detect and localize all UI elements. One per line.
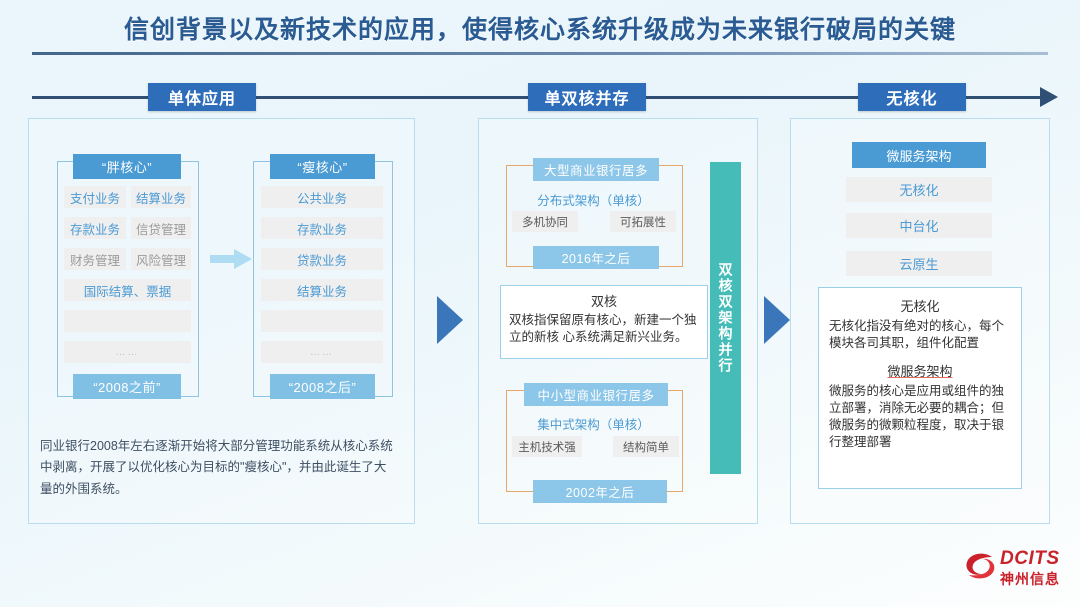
thin-core-chip: 公共业务	[261, 186, 383, 208]
fat-core-chip: 支付业务	[64, 186, 126, 208]
logo-text-cn: 神州信息	[1000, 569, 1060, 589]
stage-label-coreless[interactable]: 无核化	[858, 83, 966, 111]
small-bank-tag: 结构简单	[613, 436, 679, 457]
small-bank-subtitle: 集中式架构（单核）	[506, 414, 681, 433]
fat-core-chip: 风险管理	[131, 248, 191, 270]
company-logo: DCITS 神州信息	[962, 548, 1068, 592]
coreless-chip: 无核化	[846, 177, 992, 202]
stage-label-text: 无核化	[886, 85, 937, 109]
thin-core-footer: “2008之后”	[270, 374, 375, 399]
fat-core-header: “胖核心”	[73, 154, 181, 179]
large-bank-header-text: 大型商业银行居多	[544, 160, 648, 179]
microservice-header-text: 微服务架构	[886, 146, 951, 165]
fat-core-chip: 财务管理	[64, 248, 126, 270]
large-bank-subtitle: 分布式架构（单核）	[506, 190, 681, 209]
thin-core-chip	[261, 310, 383, 332]
large-bank-tag: 多机协同	[512, 211, 578, 232]
thin-core-chip: ……	[261, 341, 383, 363]
coreless-chip: 云原生	[846, 251, 992, 276]
thin-core-header-text: “瘦核心”	[297, 157, 347, 176]
monolithic-note: 同业银行2008年左右逐渐开始将大部分管理功能系统从核心系统中剥离，开展了以优化…	[40, 436, 398, 510]
large-bank-header: 大型商业银行居多	[533, 158, 659, 181]
thin-core-chip: 存款业务	[261, 217, 383, 239]
page-title: 信创背景以及新技术的应用，使得核心系统升级成为未来银行破局的关键	[124, 10, 956, 46]
thin-core-chip: 贷款业务	[261, 248, 383, 270]
stage-label-monolithic[interactable]: 单体应用	[148, 83, 256, 111]
dual-core-note-body: 双核指保留原有核心，新建一个独立的新核 心系统满足新兴业务。	[509, 312, 699, 346]
small-bank-header-text: 中小型商业银行居多	[537, 385, 654, 404]
flow-arrow-icon-1	[437, 296, 463, 344]
flow-arrow-icon-2	[764, 296, 790, 344]
stage-label-dual-core[interactable]: 单双核并存	[528, 83, 646, 111]
large-bank-tag: 可拓展性	[610, 211, 676, 232]
thin-core-chip: 结算业务	[261, 279, 383, 301]
dual-core-vertical-bar: 双核双架构并行	[710, 162, 741, 474]
fat-core-footer: “2008之前”	[73, 374, 181, 399]
fat-core-chip: ……	[64, 341, 191, 363]
dcits-swirl-icon	[962, 548, 998, 584]
dual-core-note: 双核 双核指保留原有核心，新建一个独立的新核 心系统满足新兴业务。	[500, 285, 708, 359]
transform-arrow-icon	[210, 248, 252, 270]
coreless-note-body-2: 微服务的核心是应用或组件的独立部署，消除无必要的耦合；但微服务的微颗粒程度，取决…	[829, 383, 1011, 452]
thin-core-footer-text: “2008之后”	[289, 377, 357, 396]
slide-title-bar: 信创背景以及新技术的应用，使得核心系统升级成为未来银行破局的关键	[0, 0, 1080, 56]
fat-core-chip	[64, 310, 191, 332]
fat-core-chip: 结算业务	[131, 186, 191, 208]
dual-core-note-title: 双核	[501, 291, 707, 310]
fat-core-chip: 信贷管理	[131, 217, 191, 239]
fat-core-footer-text: “2008之前”	[93, 377, 161, 396]
small-bank-footer: 2002年之后	[533, 480, 667, 503]
title-underline	[32, 52, 1048, 55]
fat-core-chip: 国际结算、票据	[64, 279, 191, 301]
large-bank-footer-text: 2016年之后	[562, 248, 631, 267]
small-bank-header: 中小型商业银行居多	[524, 383, 668, 406]
fat-core-header-text: “胖核心”	[102, 157, 152, 176]
timeline-arrow-icon	[1040, 87, 1058, 107]
fat-core-chip: 存款业务	[64, 217, 126, 239]
small-bank-tag: 主机技术强	[512, 436, 582, 457]
small-bank-footer-text: 2002年之后	[566, 482, 635, 501]
logo-text-en: DCITS	[1000, 548, 1060, 570]
stage-label-text: 单双核并存	[544, 85, 629, 109]
large-bank-footer: 2016年之后	[533, 246, 659, 269]
stage-label-text: 单体应用	[168, 85, 236, 109]
thin-core-header: “瘦核心”	[270, 154, 375, 179]
coreless-note-title-1: 无核化	[819, 296, 1021, 315]
coreless-note: 无核化 无核化指没有绝对的核心，每个模块各司其职，组件化配置 微服务架构 微服务…	[818, 287, 1022, 489]
coreless-chip: 中台化	[846, 213, 992, 238]
coreless-note-title-2: 微服务架构	[819, 361, 1021, 380]
coreless-note-body-1: 无核化指没有绝对的核心，每个模块各司其职，组件化配置	[829, 318, 1011, 353]
microservice-header: 微服务架构	[852, 142, 986, 168]
